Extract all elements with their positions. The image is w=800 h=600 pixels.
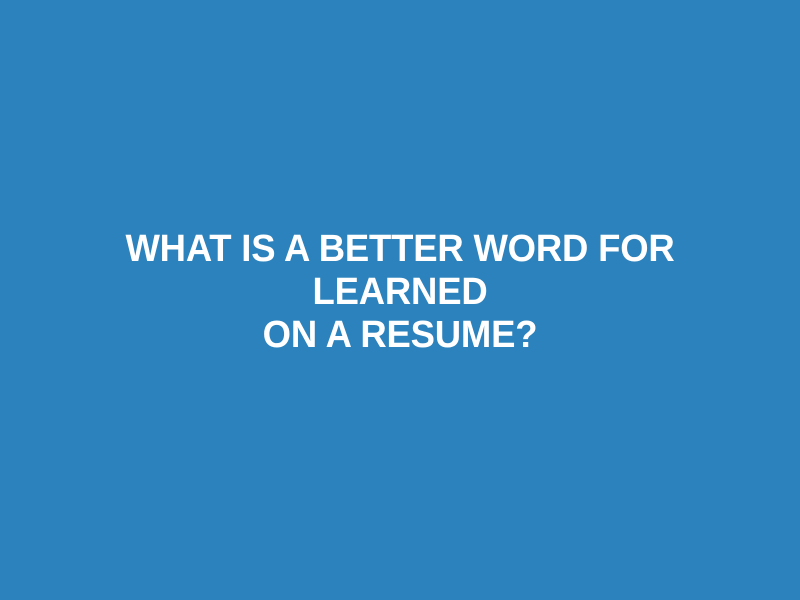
page-title: WHAT IS A BETTER WORD FOR LEARNED ON A R… [64,228,736,357]
featured-image-card: WHAT IS A BETTER WORD FOR LEARNED ON A R… [0,0,800,600]
title-block: WHAT IS A BETTER WORD FOR LEARNED ON A R… [50,228,750,357]
